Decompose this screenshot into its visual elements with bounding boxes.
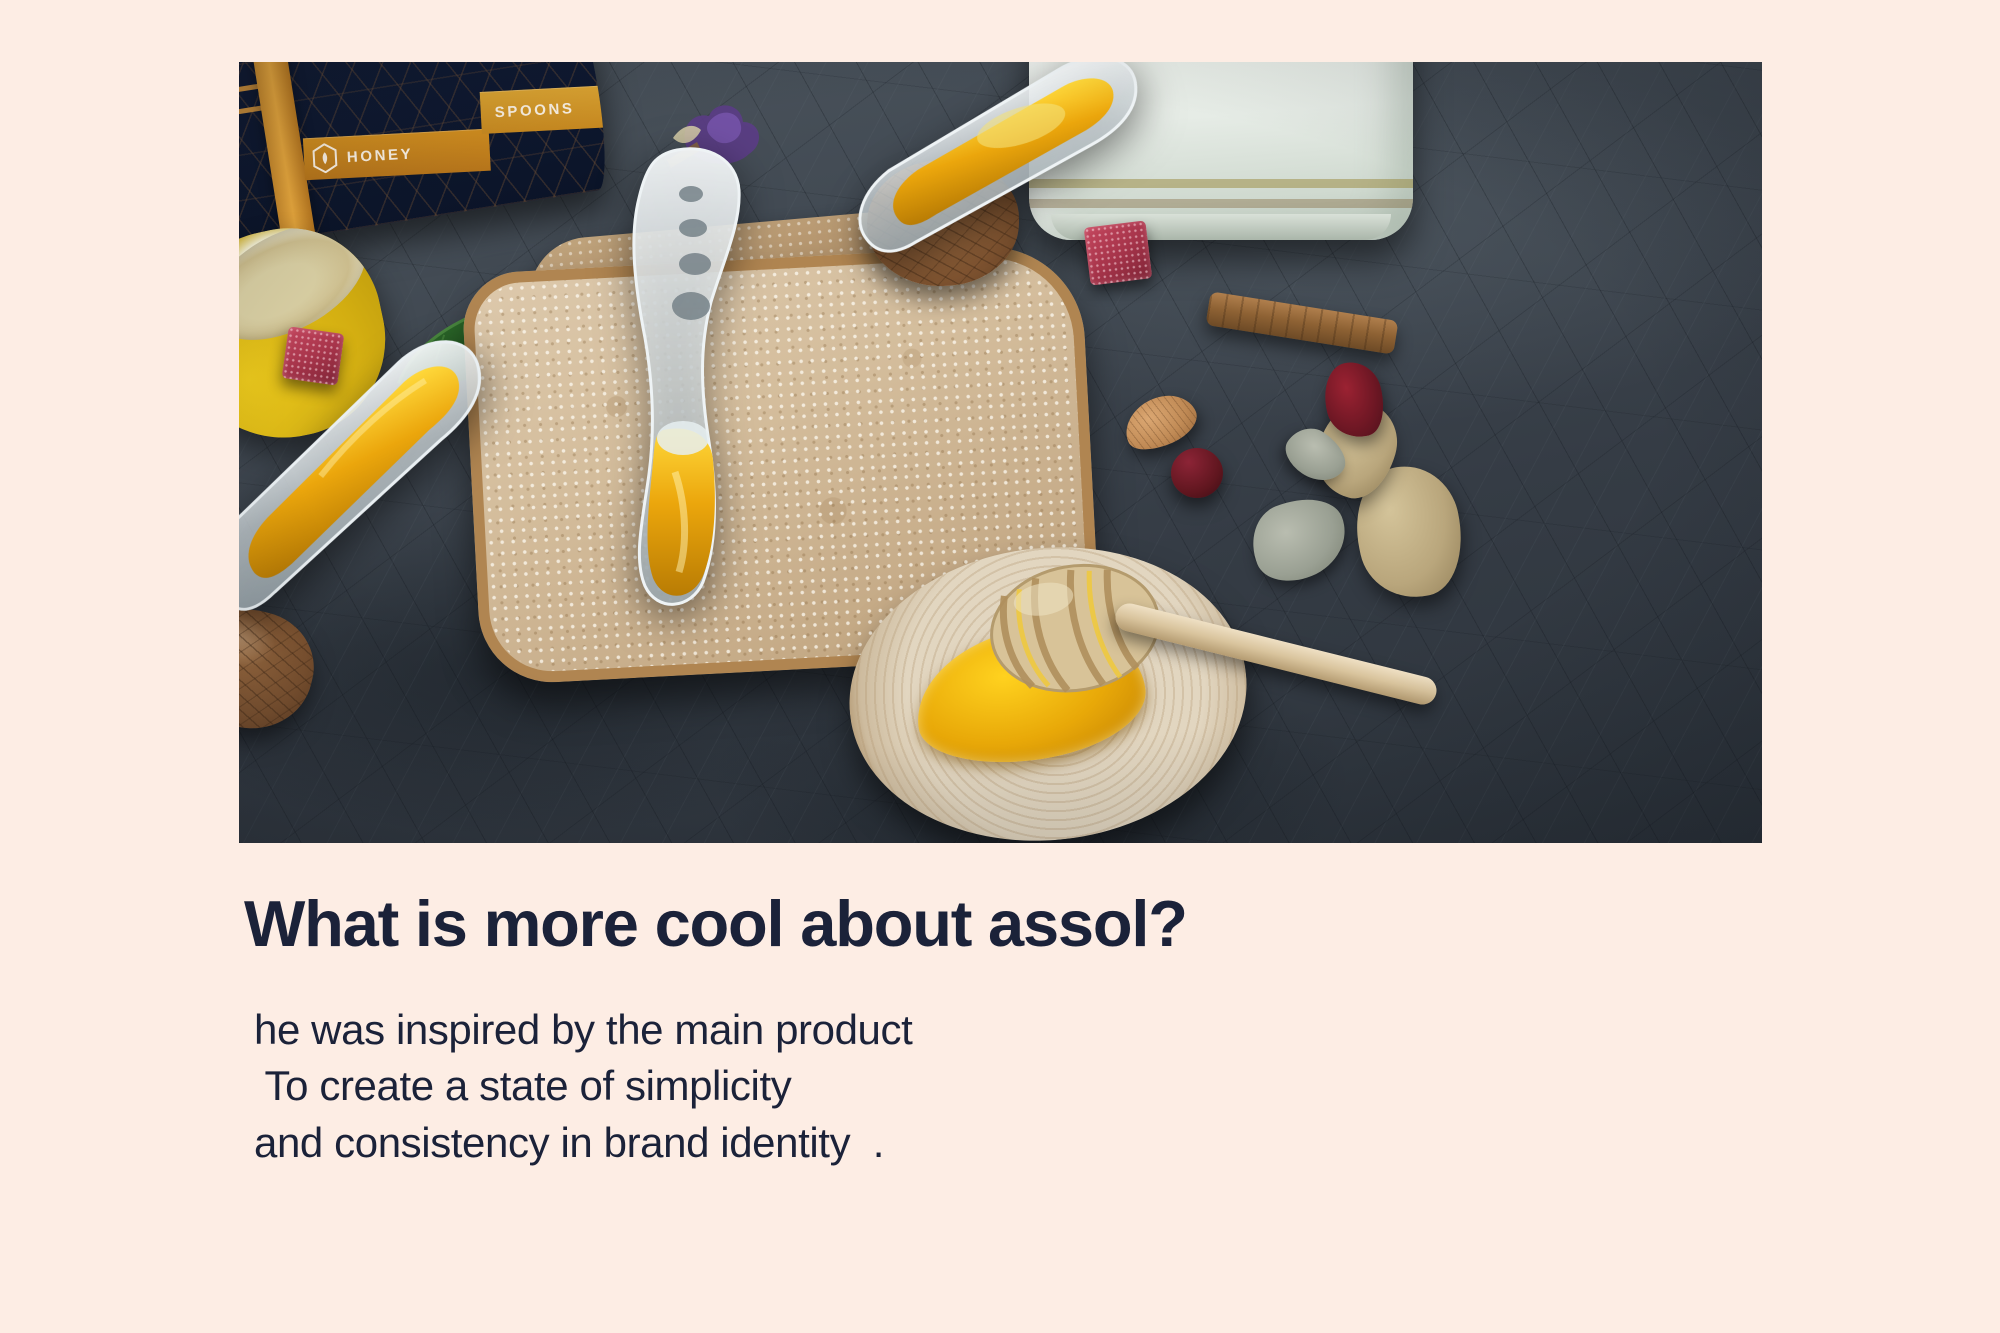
page-title: What is more cool about assol? xyxy=(244,890,1739,958)
hero-product-photo: HONEY SPOONS xyxy=(239,62,1762,843)
sugar-cube xyxy=(1084,220,1153,285)
presentation-slide: HONEY SPOONS xyxy=(0,0,2000,1333)
packaging-label-honey: HONEY xyxy=(346,145,413,165)
packaging-band-spoons: SPOONS xyxy=(480,84,614,134)
slide-text-block: What is more cool about assol? he was in… xyxy=(239,890,1739,1172)
slide-body-text: he was inspired by the main product To c… xyxy=(254,1002,1739,1172)
body-line-1: he was inspired by the main product xyxy=(254,1002,1739,1059)
rosehip-berry xyxy=(1171,448,1223,498)
body-line-3: and consistency in brand identity . xyxy=(254,1115,1739,1172)
honeycomb-hex-icon xyxy=(311,143,339,174)
honey-spoon-center xyxy=(591,142,811,612)
packaging-label-spoons: SPOONS xyxy=(494,100,575,121)
body-line-2: To create a state of simplicity xyxy=(254,1058,1739,1115)
